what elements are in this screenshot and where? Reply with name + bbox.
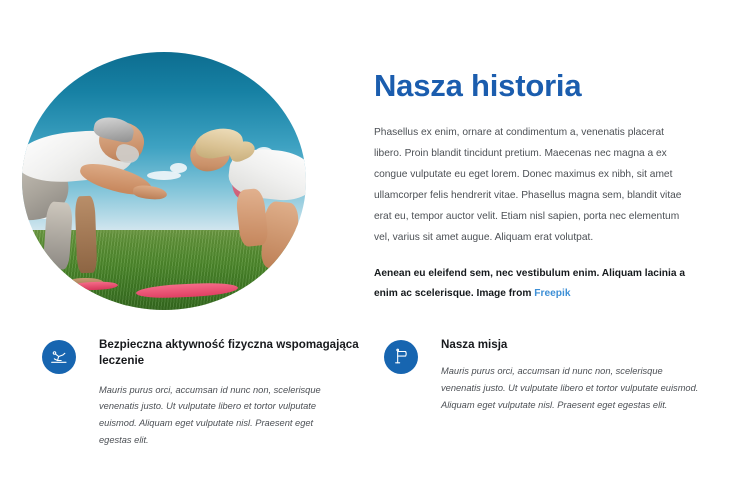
story-highlight-paragraph: Aenean eu eleifend sem, nec vestibulum e…	[374, 264, 692, 305]
hero-circle-image	[22, 52, 306, 310]
feature-heading: Nasza misja	[441, 337, 704, 353]
exercise-figure-icon	[42, 340, 76, 374]
feature-heading: Bezpieczna aktywność fizyczna wspomagają…	[99, 337, 362, 370]
freepik-link[interactable]: Freepik	[534, 288, 570, 299]
page-root: Nasza historia Phasellus ex enim, ornare…	[0, 0, 750, 480]
story-paragraph: Phasellus ex enim, ornare at condimentum…	[374, 122, 692, 248]
image-credit-label: Image from	[477, 288, 535, 299]
story-section: Nasza historia Phasellus ex enim, ornare…	[374, 70, 692, 304]
feature-card-safe-activity: Bezpieczna aktywność fizyczna wspomagają…	[42, 337, 362, 448]
features-section: Bezpieczna aktywność fizyczna wspomagają…	[0, 337, 750, 467]
feature-body: Mauris purus orci, accumsan id nunc non,…	[99, 382, 327, 448]
page-title: Nasza historia	[374, 70, 692, 103]
hero-photo	[22, 52, 306, 310]
feature-body: Mauris purus orci, accumsan id nunc non,…	[441, 363, 701, 413]
flag-icon	[384, 340, 418, 374]
man-leg	[75, 196, 98, 274]
man-leg	[42, 201, 72, 270]
feature-card-mission: Nasza misja Mauris purus orci, accumsan …	[384, 337, 704, 413]
cloud	[170, 163, 187, 173]
